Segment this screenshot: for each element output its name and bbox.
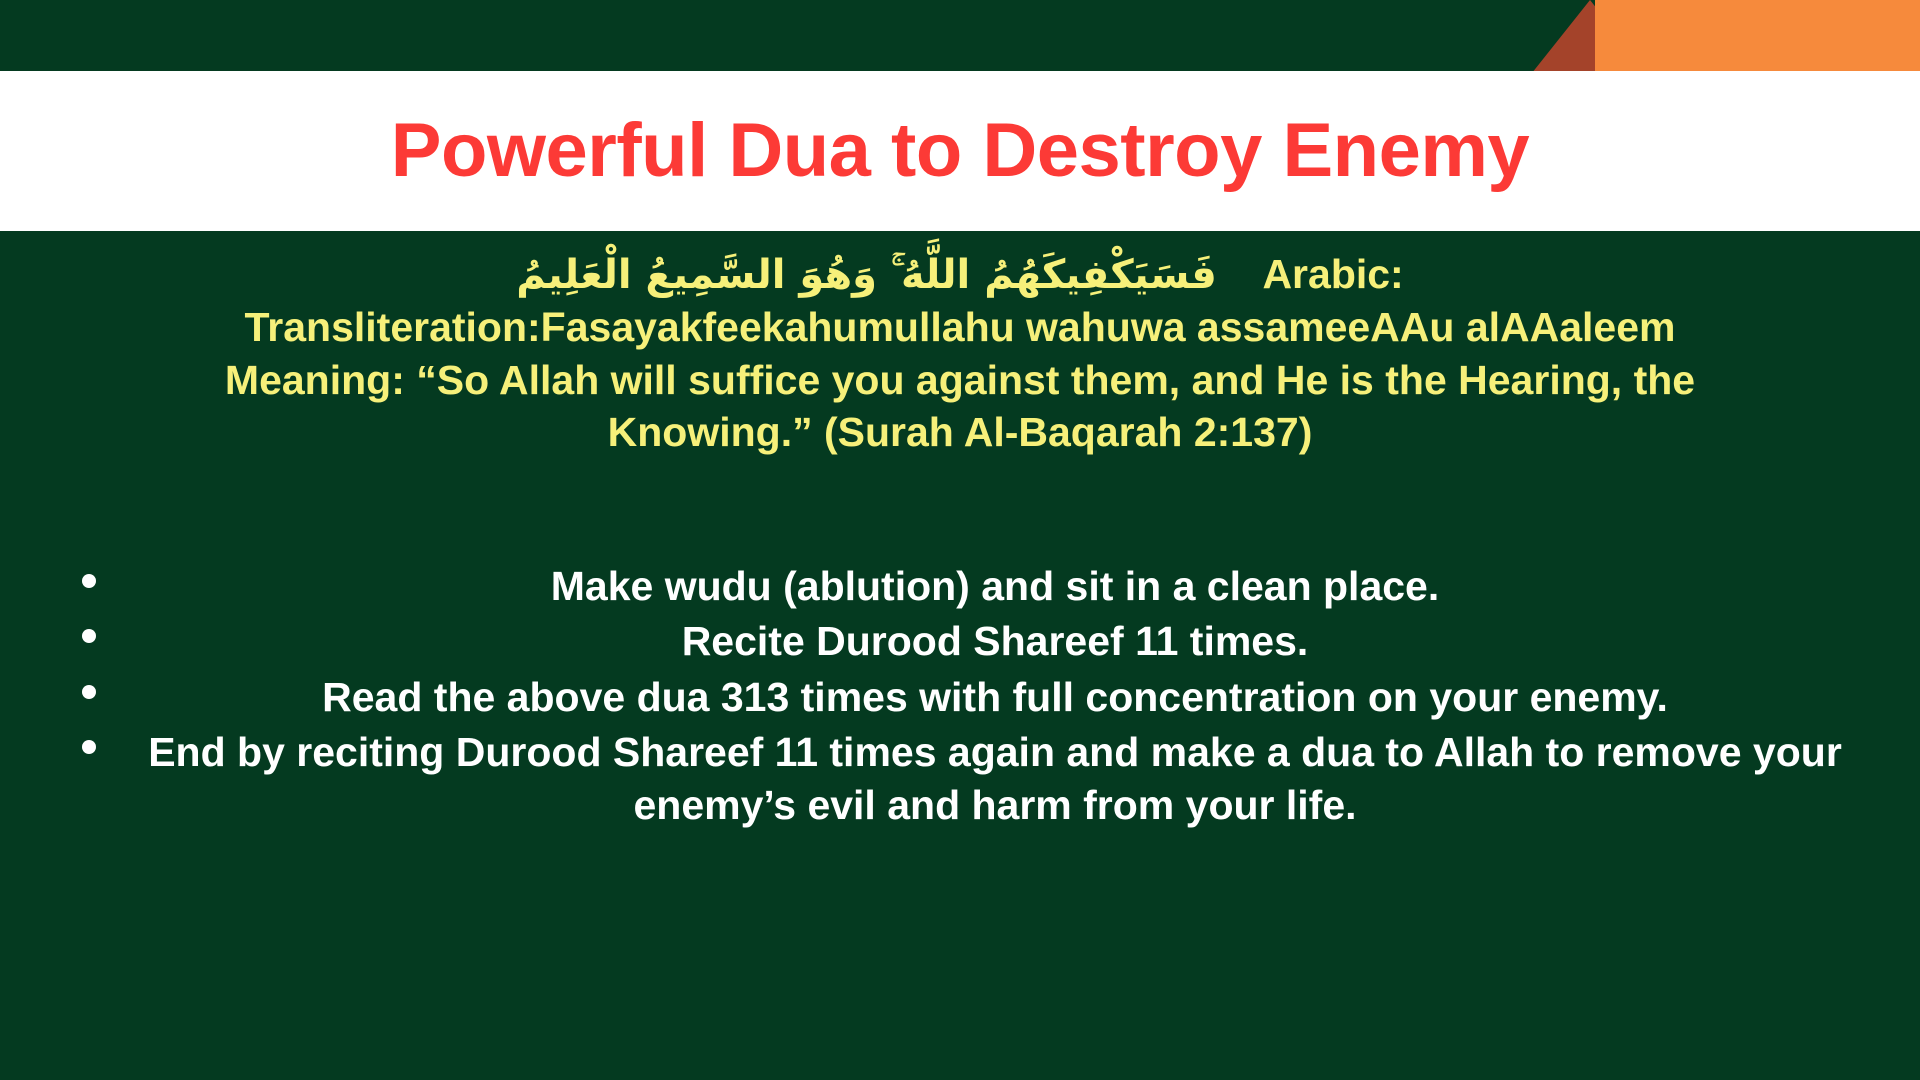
verse-block: Arabic: فَسَيَكْفِيكَهُمُ اللَّهُ ۚ وَهُ…	[0, 248, 1920, 459]
transliteration-line: Transliteration:Fasayakfeekahumullahu wa…	[40, 301, 1880, 353]
list-item: Read the above dua 313 times with full c…	[60, 671, 1890, 724]
title-band: Powerful Dua to Destroy Enemy	[0, 71, 1920, 231]
list-item: Recite Durood Shareef 11 times.	[60, 615, 1890, 668]
slide-canvas: Powerful Dua to Destroy Enemy Arabic: فَ…	[0, 0, 1920, 1080]
list-item-label: Make wudu (ablution) and sit in a clean …	[551, 563, 1440, 609]
meaning-line-1: Meaning: “So Allah will suffice you agai…	[40, 354, 1880, 406]
arabic-verse-line: Arabic: فَسَيَكْفِيكَهُمُ اللَّهُ ۚ وَهُ…	[40, 248, 1880, 301]
bullet-icon	[82, 574, 96, 588]
list-item-label: Read the above dua 313 times with full c…	[322, 674, 1668, 720]
page-title: Powerful Dua to Destroy Enemy	[391, 113, 1529, 189]
steps-list: Make wudu (ablution) and sit in a clean …	[0, 560, 1920, 834]
list-item-label: Recite Durood Shareef 11 times.	[682, 618, 1309, 664]
list-item: End by reciting Durood Shareef 11 times …	[60, 726, 1890, 833]
meaning-line-2: Knowing.” (Surah Al-Baqarah 2:137)	[40, 406, 1880, 458]
arabic-label: Arabic:	[1262, 251, 1403, 297]
bullet-icon	[82, 685, 96, 699]
list-item-label: End by reciting Durood Shareef 11 times …	[148, 729, 1842, 828]
list-item: Make wudu (ablution) and sit in a clean …	[60, 560, 1890, 613]
bullet-icon	[82, 629, 96, 643]
arabic-verse-text: فَسَيَكْفِيكَهُمُ اللَّهُ ۚ وَهُوَ السَّ…	[516, 252, 1217, 298]
bullet-icon	[82, 740, 96, 754]
